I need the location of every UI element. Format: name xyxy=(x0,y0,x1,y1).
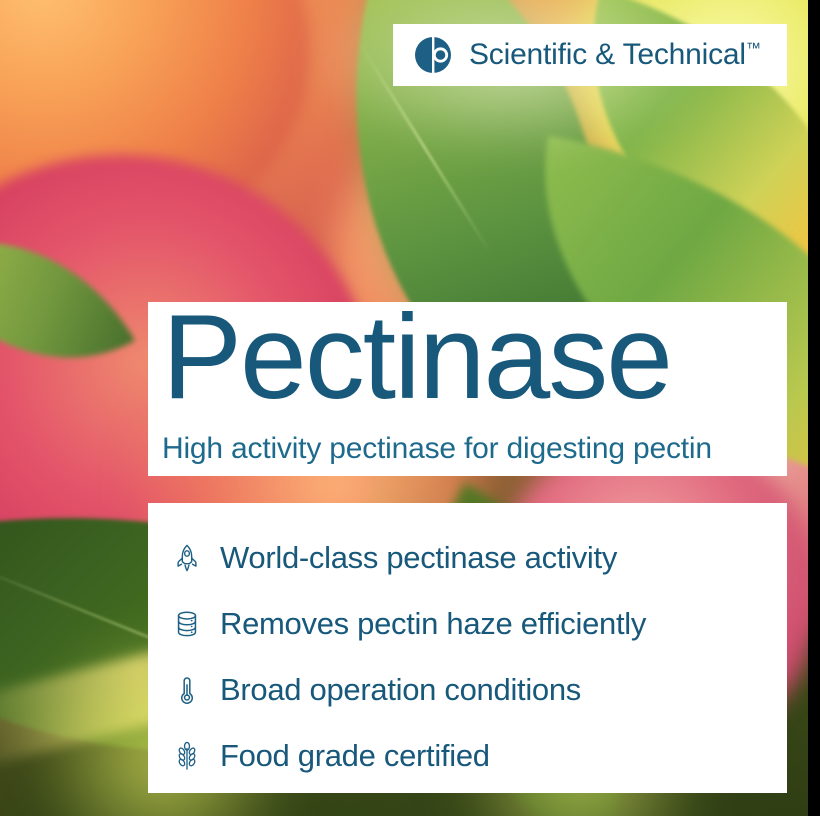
brand-name: Scientific & Technical™ xyxy=(469,38,761,72)
split-circle-lens-logo-icon xyxy=(412,34,454,76)
list-item-label: Food grade certified xyxy=(220,738,490,774)
brand-name-text: Scientific & Technical xyxy=(469,38,746,71)
list-item-label: Broad operation conditions xyxy=(220,672,581,708)
right-bezel xyxy=(808,0,820,816)
brand-logo-bar: Scientific & Technical™ xyxy=(393,24,787,86)
rocket-icon xyxy=(166,537,208,579)
list-item: World-class pectinase activity xyxy=(148,525,787,591)
database-icon xyxy=(166,603,208,645)
thermometer-icon xyxy=(166,669,208,711)
trademark-symbol: ™ xyxy=(746,40,761,57)
page-title: Pectinase xyxy=(162,294,671,420)
list-item-label: Removes pectin haze efficiently xyxy=(220,606,646,642)
feature-list: World-class pectinase activity Removes p… xyxy=(148,503,787,793)
list-item: Removes pectin haze efficiently xyxy=(148,591,787,657)
product-poster: Scientific & Technical™ Pectinase High a… xyxy=(0,0,820,816)
wheat-icon xyxy=(166,735,208,777)
list-item: Food grade certified xyxy=(148,723,787,789)
list-item: Broad operation conditions xyxy=(148,657,787,723)
page-subtitle: High activity pectinase for digesting pe… xyxy=(162,428,792,470)
list-item-label: World-class pectinase activity xyxy=(220,540,617,576)
